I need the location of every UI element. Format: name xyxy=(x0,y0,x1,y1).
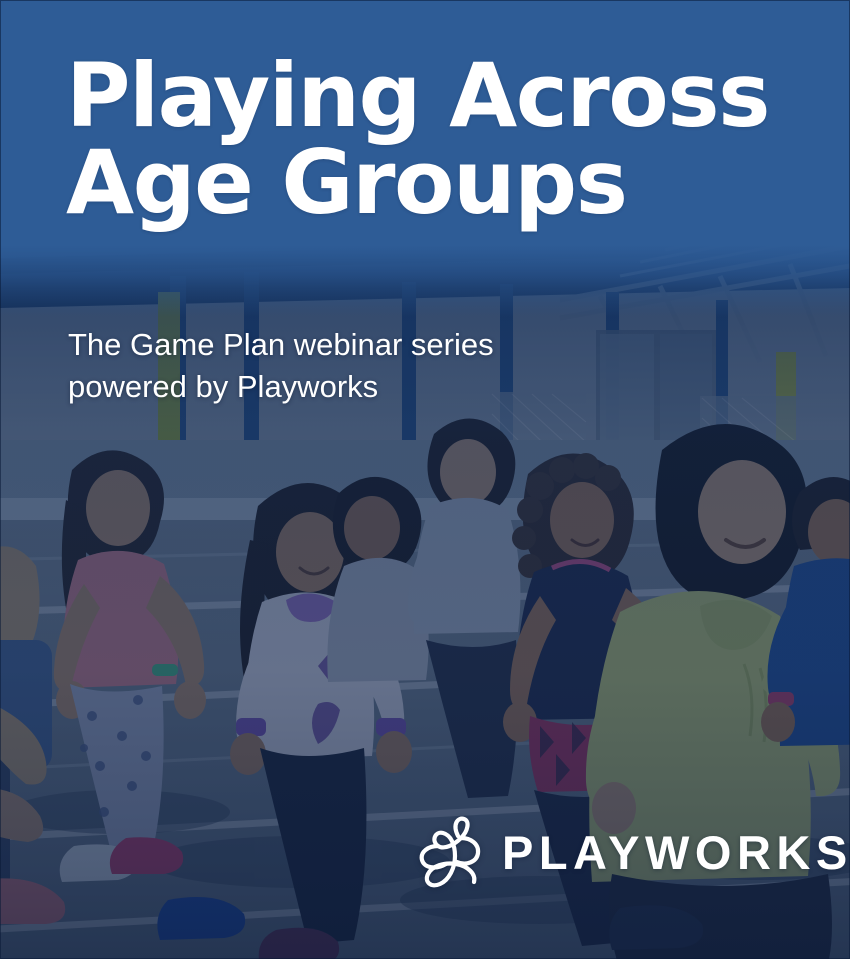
poster-content: Playing Across Age Groups The Game Plan … xyxy=(0,0,850,959)
subtitle: The Game Plan webinar series powered by … xyxy=(68,324,708,408)
playworks-wordmark: PLAYWORKS xyxy=(502,829,850,876)
playworks-logo: PLAYWORKS xyxy=(414,812,850,892)
subtitle-line-2: powered by Playworks xyxy=(68,366,708,408)
title-line-1: Playing Across xyxy=(66,52,826,139)
webinar-title-card: Playing Across Age Groups The Game Plan … xyxy=(0,0,850,959)
subtitle-line-1: The Game Plan webinar series xyxy=(68,324,708,366)
title-line-2: Age Groups xyxy=(66,139,826,226)
page-title: Playing Across Age Groups xyxy=(66,52,826,226)
playworks-loop-mark-icon xyxy=(414,812,488,892)
